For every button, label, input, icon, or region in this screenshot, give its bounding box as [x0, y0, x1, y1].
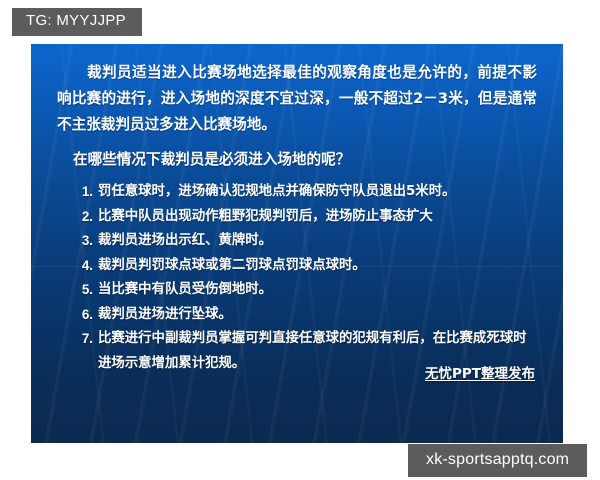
tg-handle-overlay: TG: MYYJJPP [12, 8, 142, 36]
slide-content: 裁判员适当进入比赛场地选择最佳的观察角度也是允许的，前提不影响比赛的进行，进入场… [31, 60, 563, 376]
list-item-number: 1. [73, 180, 93, 205]
list-item: 5. 当比赛中有队员受伤倒地时。 [73, 278, 533, 303]
list-item-number: 4. [73, 254, 93, 279]
list-item: 1. 罚任意球时，进场确认犯规地点并确保防守队员退出5米时。 [73, 180, 533, 205]
list-item: 4. 裁判员判罚球点球或第二罚球点罚球点球时。 [73, 254, 533, 279]
list-item-number: 3. [73, 229, 93, 254]
list-item-text: 比赛中队员出现动作粗野犯规判罚后，进场防止事态扩大 [98, 205, 533, 230]
list-item-number: 6. [73, 303, 93, 328]
list-item-text: 裁判员进场出示红、黄牌时。 [98, 229, 533, 254]
list-item-text: 当比赛中有队员受伤倒地时。 [98, 278, 533, 303]
list-item-number: 7. [73, 327, 93, 352]
list-item-number: 5. [73, 278, 93, 303]
list-item: 6. 裁判员进场进行坠球。 [73, 303, 533, 328]
numbered-list: 1. 罚任意球时，进场确认犯规地点并确保防守队员退出5米时。 2. 比赛中队员出… [73, 180, 533, 376]
list-item-text: 裁判员判罚球点球或第二罚球点罚球点球时。 [98, 254, 533, 279]
list-item-number: 2. [73, 205, 93, 230]
presentation-slide: 裁判员适当进入比赛场地选择最佳的观察角度也是允许的，前提不影响比赛的进行，进入场… [31, 44, 563, 443]
list-item: 3. 裁判员进场出示红、黄牌时。 [73, 229, 533, 254]
intro-paragraph: 裁判员适当进入比赛场地选择最佳的观察角度也是允许的，前提不影响比赛的进行，进入场… [57, 60, 537, 138]
list-item-text: 罚任意球时，进场确认犯规地点并确保防守队员退出5米时。 [98, 180, 533, 205]
site-watermark: xk-sportsapptq.com [408, 444, 587, 477]
credit-text: 无忧PPT整理发布 [425, 366, 535, 382]
credit-line: 无忧PPT整理发布 [31, 362, 563, 383]
list-item-text: 裁判员进场进行坠球。 [98, 303, 533, 328]
question-heading: 在哪些情况下裁判员是必须进入场地的呢？ [73, 149, 563, 171]
list-item: 2. 比赛中队员出现动作粗野犯规判罚后，进场防止事态扩大 [73, 205, 533, 230]
